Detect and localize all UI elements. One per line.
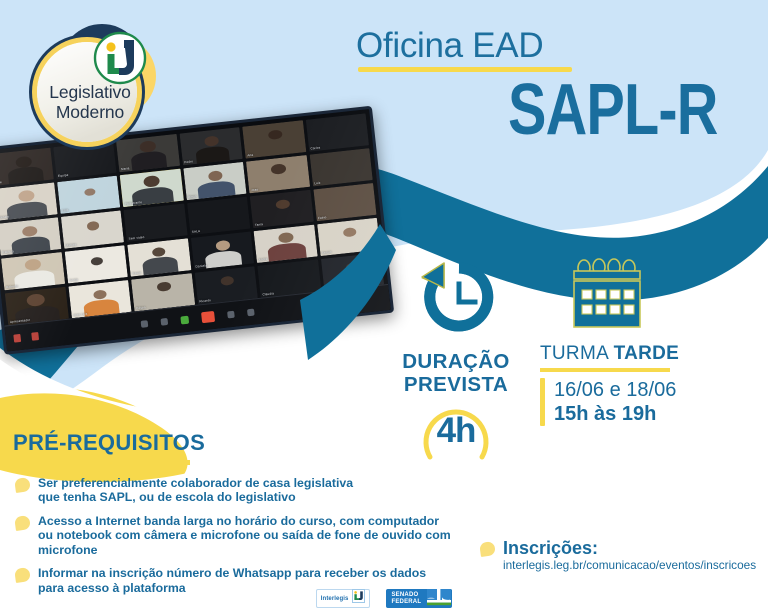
- participant-tile: Daniela: [190, 231, 254, 269]
- reactions-icon: [247, 309, 255, 317]
- share-icon: [141, 320, 149, 328]
- participant-tile: Renato: [0, 182, 57, 220]
- senado-line-1: SENADO: [391, 592, 421, 599]
- bullet-icon: [14, 567, 31, 583]
- duration-label: DURAÇÃO PREVISTA: [384, 350, 528, 396]
- page-title: SAPL-R: [428, 78, 732, 142]
- congresso-nacional-icon: [426, 589, 452, 608]
- prerequisites-block: PRÉ-REQUISITOS Ser preferencialmente col…: [13, 430, 513, 605]
- list-item-text: Acesso a Internet banda larga no horário…: [38, 514, 513, 558]
- bullet-icon: [14, 515, 31, 531]
- list-item: Acesso a Internet banda larga no horário…: [13, 514, 513, 558]
- participant-tile: Sonia: [64, 245, 128, 283]
- participant-tile: Andre: [254, 225, 318, 263]
- turma-lines: 16/06 e 18/06 15h às 19h: [554, 378, 676, 426]
- participant-tile: Roberto: [1, 252, 65, 290]
- turma-dates-block: 16/06 e 18/06 15h às 19h: [540, 378, 750, 426]
- participant-tile: Diego: [183, 162, 247, 200]
- participant-tile: Joao: [246, 155, 310, 193]
- record-icon: [227, 311, 235, 319]
- zoom-mute-controls: [13, 332, 39, 343]
- bullet-icon: [14, 477, 31, 493]
- list-item-text: Ser preferencialmente colaborador de cas…: [38, 476, 353, 505]
- registration-block[interactable]: Inscrições: interlegis.leg.br/comunicaca…: [478, 538, 756, 573]
- registration-url[interactable]: interlegis.leg.br/comunicacao/eventos/in…: [503, 558, 756, 573]
- turma-block: TURMA TARDE 16/06 e 18/06 15h às 19h: [540, 258, 750, 426]
- duration-label-line1: DURAÇÃO: [384, 350, 528, 373]
- prerequisites-list: Ser preferencialmente colaborador de cas…: [13, 476, 513, 596]
- interlegis-wordmark: Interlegis: [321, 596, 349, 602]
- interlegis-ij-mark-icon: [352, 589, 365, 608]
- turma-dates: 16/06 e 18/06: [554, 378, 676, 402]
- badge-line-2: Moderno: [24, 102, 156, 122]
- participant-tile: Sala: [57, 176, 121, 214]
- participant-tile: Fabio: [313, 183, 377, 221]
- participant-tile: Paulo: [127, 238, 191, 276]
- participant-tile: Pedro: [179, 127, 243, 165]
- registration-body: Inscrições: interlegis.leg.br/comunicaca…: [503, 538, 756, 573]
- participant-tile: Tania: [250, 190, 314, 228]
- prerequisites-title: PRÉ-REQUISITOS: [13, 430, 513, 456]
- participants-count-badge: [180, 315, 189, 324]
- badge-text-block: Legislativo Moderno: [24, 82, 156, 122]
- bullet-icon: [479, 541, 496, 557]
- participant-tile: Luiz: [309, 148, 373, 186]
- participant-tile: Patricia: [0, 217, 61, 255]
- eyebrow-title: Oficina EAD: [352, 26, 732, 66]
- turma-title: TURMA TARDE: [540, 343, 750, 365]
- senado-wordmark: SENADO FEDERAL: [386, 592, 426, 606]
- senado-federal-logo: SENADO FEDERAL: [386, 589, 452, 608]
- turma-title-bold: TARDE: [614, 343, 680, 364]
- headline-block: Oficina EAD SAPL-R: [352, 26, 732, 142]
- participant-tile: Sergio: [317, 218, 381, 256]
- participants-icon: [160, 318, 168, 326]
- interlegis-ij-icon: [95, 33, 145, 83]
- participant-tile-active: Palestrante: [120, 169, 184, 207]
- interlegis-logo: Interlegis: [316, 589, 371, 608]
- turma-accent-bar: [540, 378, 545, 426]
- list-item: Ser preferencialmente colaborador de cas…: [13, 476, 513, 505]
- clock-rotate-icon: [384, 258, 528, 341]
- senado-line-2: FEDERAL: [391, 599, 421, 606]
- calendar-icon: [566, 258, 750, 337]
- turma-title-normal: TURMA: [540, 343, 614, 364]
- registration-title: Inscrições:: [503, 538, 756, 558]
- duration-label-line2: PREVISTA: [384, 373, 528, 396]
- legislativo-moderno-badge: Legislativo Moderno: [24, 18, 170, 158]
- prerequisites-underline: [13, 460, 190, 465]
- chat-icon: [201, 311, 215, 323]
- footer-logos: Interlegis SENADO FEDERAL: [0, 589, 768, 608]
- badge-line-1: Legislativo: [24, 82, 156, 102]
- participant-tile: Ana: [242, 120, 306, 158]
- turma-underline: [540, 368, 670, 372]
- participant-tile: SALA: [187, 197, 251, 235]
- participant-tile: Marcos: [60, 210, 124, 248]
- poster-canvas: Jose Equipe Maria Pedro Ana Carlos Renat…: [0, 0, 768, 614]
- turma-times: 15h às 19h: [554, 402, 676, 426]
- participant-tile: Sem video: [124, 204, 188, 242]
